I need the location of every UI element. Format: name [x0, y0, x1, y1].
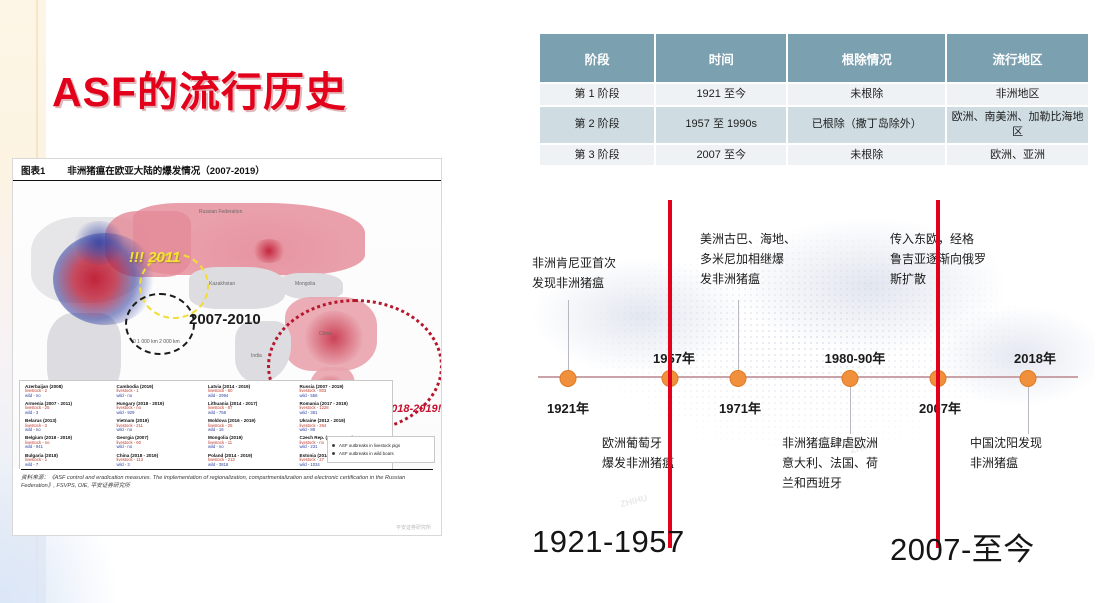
- report-watermark: 平安证券研究所: [396, 524, 431, 531]
- report-source: 资料来源：《ASF control and eradication measur…: [21, 469, 433, 494]
- table-header-row: 阶段 时间 根除情况 流行地区: [540, 34, 1088, 83]
- figure-header: 图表1 非洲猪瘟在欧亚大陆的爆发情况（2007-2019）: [13, 159, 441, 181]
- country-entry: Belgium (2018 - 2019) livestock - no wil…: [25, 435, 113, 450]
- map-scale-bar: 0 1 000 km 2 000 km: [133, 339, 180, 345]
- timeline-event-eastern-europe: 传入东欧，经格 鲁吉亚逐渐向俄罗 斯扩散: [890, 230, 1020, 289]
- timeline-year-1957: 1957年: [653, 348, 695, 367]
- country-wild-count: wild - 381: [300, 411, 388, 416]
- timeline-event-line: 非洲肯尼亚首次: [532, 254, 652, 274]
- map-label-mongolia: Mongolia: [295, 281, 315, 287]
- country-entry: Belarus (2013) livestock - 2 wild - no: [25, 418, 113, 433]
- country-wild-count: wild - no: [208, 445, 296, 450]
- timeline-year-2018: 2018年: [1014, 348, 1056, 367]
- timeline-event-kenya: 非洲肯尼亚首次 发现非洲猪瘟: [532, 254, 652, 294]
- country-entry: Hungary (2018 - 2019) livestock - no wil…: [117, 401, 205, 416]
- timeline-event-line: 非洲猪瘟肆虐欧洲: [782, 434, 914, 454]
- timeline-event-line: 美洲古巴、海地、: [700, 230, 828, 250]
- map-legend: ASF outbreaks in livestock pigs ASF outb…: [327, 436, 435, 464]
- map-label-russia: Russian Federation: [199, 209, 242, 215]
- country-entry: Moldova (2016 - 2019) livestock - 25 wil…: [208, 418, 296, 433]
- timeline-event-line: 多米尼加相继爆: [700, 250, 828, 270]
- table-cell-eradication: 已根除（撒丁岛除外）: [787, 106, 946, 144]
- table-header-eradication: 根除情况: [787, 34, 946, 83]
- table-header-region: 流行地区: [946, 34, 1088, 83]
- map-annotation-2007-2010: 2007-2010: [189, 311, 261, 328]
- country-wild-count: wild - 2994: [208, 394, 296, 399]
- country-entry: Russia (2007 - 2019) livestock - 803 wil…: [300, 384, 388, 399]
- map-label-india: India: [251, 353, 262, 359]
- timeline-event-line: 中国沈阳发现: [970, 434, 1090, 454]
- timeline-event-americas: 美洲古巴、海地、 多米尼加相继爆 发非洲猪瘟: [700, 230, 828, 289]
- country-wild-count: wild - no: [25, 394, 113, 399]
- country-wild-count: wild - 929: [117, 411, 205, 416]
- country-entry: Mongolia (2019) livestock - 11 wild - no: [208, 435, 296, 450]
- country-entry: China (2018 - 2019) livestock - 113 wild…: [117, 453, 205, 468]
- legend-label: ASF outbreaks in livestock pigs: [339, 443, 400, 448]
- table-cell-region: 欧洲、南美洲、加勒比海地区: [946, 106, 1088, 144]
- period-label-left: 1921-1957: [532, 524, 685, 560]
- country-entry: Cambodia (2019) livestock - 1 wild - no: [117, 384, 205, 399]
- country-entry: Latvia (2014 - 2019) livestock - 60 wild…: [208, 384, 296, 399]
- table-row: 第 2 阶段 1957 至 1990s 已根除（撒丁岛除外） 欧洲、南美洲、加勒…: [540, 106, 1088, 144]
- timeline-event-line: 意大利、法国、荷: [782, 454, 914, 474]
- timeline-year-1971: 1971年: [719, 398, 761, 417]
- timeline-stem: [568, 300, 569, 378]
- country-column: Cambodia (2019) livestock - 1 wild - no …: [115, 384, 207, 469]
- timeline-node-1971[interactable]: [730, 370, 747, 387]
- page-title: ASF的流行历史: [52, 58, 347, 118]
- timeline-stem: [738, 300, 739, 378]
- country-entry: Poland (2014 - 2019) livestock - 213 wil…: [208, 453, 296, 468]
- country-wild-count: wild - no: [117, 394, 205, 399]
- country-wild-count: wild - no: [25, 428, 113, 433]
- legend-dot-icon: [332, 452, 335, 455]
- country-entry: Lithuania (2014 - 2017) livestock - 87 w…: [208, 401, 296, 416]
- map-annotation-2018-2019: 2018-2019!!!: [385, 403, 441, 415]
- timeline-event-line: 发现非洲猪瘟: [532, 274, 652, 294]
- timeline-node-1980-90[interactable]: [842, 370, 859, 387]
- stage-table-wrapper: 阶段 时间 根除情况 流行地区 第 1 阶段 1921 至今 未根除 非洲地区 …: [540, 34, 1088, 165]
- table-cell-stage: 第 3 阶段: [540, 144, 655, 166]
- timeline-year-1921: 1921年: [547, 398, 589, 417]
- table-cell-time: 1921 至今: [655, 83, 787, 106]
- country-wild-count: wild - no: [117, 445, 205, 450]
- country-entry: Vietnam (2019) livestock - 211 wild - no: [117, 418, 205, 433]
- legend-row: ASF outbreaks in wild boars: [332, 451, 430, 456]
- country-entry: Armenia (2007 - 2011) livestock - 25 wil…: [25, 401, 113, 416]
- period-label-right: 2007-至今: [890, 524, 1035, 569]
- country-wild-count: wild - 3816: [208, 463, 296, 468]
- timeline-node-2018[interactable]: [1020, 370, 1037, 387]
- table-cell-region: 欧洲、亚洲: [946, 144, 1088, 166]
- report-card: 图表1 非洲猪瘟在欧亚大陆的爆发情况（2007-2019） Russian Fe…: [12, 158, 442, 536]
- legend-dot-icon: [332, 444, 335, 447]
- stage-table: 阶段 时间 根除情况 流行地区 第 1 阶段 1921 至今 未根除 非洲地区 …: [540, 34, 1088, 165]
- country-column: Azerbaijan (2008) livestock - 2 wild - n…: [23, 384, 115, 469]
- timeline-event-line: 非洲猪瘟: [970, 454, 1090, 474]
- country-wild-count: wild - no: [117, 428, 205, 433]
- timeline-event-europe-spread: 非洲猪瘟肆虐欧洲 意大利、法国、荷 兰和西班牙: [782, 434, 914, 493]
- table-header-time: 时间: [655, 34, 787, 83]
- map-annotation-2011: !!! 2011: [129, 249, 180, 266]
- country-entry: Georgia (2007) livestock - 60 wild - no: [117, 435, 205, 450]
- table-row: 第 3 阶段 2007 至今 未根除 欧洲、亚洲: [540, 144, 1088, 166]
- table-cell-eradication: 未根除: [787, 144, 946, 166]
- figure-title: 非洲猪瘟在欧亚大陆的爆发情况（2007-2019）: [67, 163, 264, 177]
- timeline-event-line: 爆发非洲猪瘟: [602, 454, 722, 474]
- timeline-event-portugal: 欧洲葡萄牙 爆发非洲猪瘟: [602, 434, 722, 474]
- outbreak-cluster-russia-east: [251, 239, 287, 263]
- legend-row: ASF outbreaks in livestock pigs: [332, 443, 430, 448]
- map-label-kazakhstan: Kazakhstan: [209, 281, 235, 287]
- country-entry: Bulgaria (2018) livestock - 1 wild - 7: [25, 453, 113, 468]
- table-cell-region: 非洲地区: [946, 83, 1088, 106]
- country-wild-count: wild - 556: [300, 394, 388, 399]
- country-wild-count: wild - 7: [25, 463, 113, 468]
- country-wild-count: wild - 3: [117, 463, 205, 468]
- timeline-event-line: 传入东欧，经格: [890, 230, 1020, 250]
- timeline-node-1921[interactable]: [560, 370, 577, 387]
- country-entry: Romania (2017 - 2019) livestock - 1228 w…: [300, 401, 388, 416]
- outbreak-map: Russian Federation Kazakhstan Mongolia C…: [13, 181, 441, 469]
- timeline-divider-1957: [668, 200, 672, 548]
- outbreak-cluster-baltic: [71, 221, 127, 265]
- country-entry: Ukraine (2012 - 2019) livestock - 264 wi…: [300, 418, 388, 433]
- figure-label: 图表1: [21, 163, 45, 177]
- table-cell-time: 2007 至今: [655, 144, 787, 166]
- country-wild-count: wild - 941: [25, 445, 113, 450]
- timeline-event-line: 斯扩散: [890, 270, 1020, 290]
- timeline-event-china-shenyang: 中国沈阳发现 非洲猪瘟: [970, 434, 1090, 474]
- table-cell-eradication: 未根除: [787, 83, 946, 106]
- country-wild-count: wild - 16: [208, 428, 296, 433]
- country-column: Latvia (2014 - 2019) livestock - 60 wild…: [206, 384, 298, 469]
- table-cell-time: 1957 至 1990s: [655, 106, 787, 144]
- timeline-axis: [538, 376, 1078, 378]
- legend-label: ASF outbreaks in wild boars: [339, 451, 394, 456]
- timeline-year-2007: 2007年: [919, 398, 961, 417]
- country-wild-count: wild - 1024: [300, 463, 388, 468]
- timeline-event-line: 兰和西班牙: [782, 474, 914, 494]
- table-row: 第 1 阶段 1921 至今 未根除 非洲地区: [540, 83, 1088, 106]
- timeline-divider-2007: [936, 200, 940, 548]
- timeline-event-line: 鲁吉亚逐渐向俄罗: [890, 250, 1020, 270]
- timeline-event-line: 欧洲葡萄牙: [602, 434, 722, 454]
- country-wild-count: wild - 758: [208, 411, 296, 416]
- table-cell-stage: 第 2 阶段: [540, 106, 655, 144]
- country-wild-count: wild - 88: [300, 428, 388, 433]
- map-highlight-circle-2007-2010: [125, 293, 195, 355]
- country-wild-count: wild - 3: [25, 411, 113, 416]
- timeline-year-1980-90: 1980-90年: [825, 348, 886, 367]
- table-cell-stage: 第 1 阶段: [540, 83, 655, 106]
- country-entry: Azerbaijan (2008) livestock - 2 wild - n…: [25, 384, 113, 399]
- timeline: ZHIHU ZHIHU 1921年 1957年 1971年 1980-90年 2…: [520, 196, 1095, 556]
- table-header-stage: 阶段: [540, 34, 655, 83]
- timeline-event-line: 发非洲猪瘟: [700, 270, 828, 290]
